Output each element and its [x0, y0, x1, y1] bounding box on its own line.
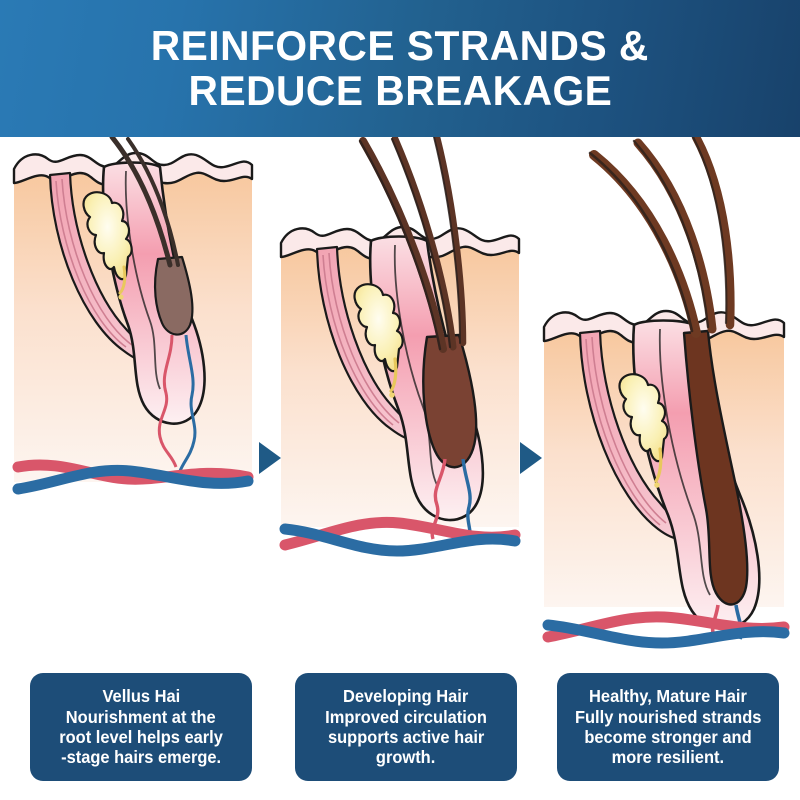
- headline-line-2: REDUCE BREAKAGE: [188, 69, 612, 114]
- caption-2-line-3: supports active hair: [328, 727, 484, 747]
- caption-box-mature-hair: Healthy, Mature Hair Fully nourished str…: [557, 673, 779, 781]
- caption-3-line-4: more resilient.: [612, 747, 724, 767]
- headline-line-1: REINFORCE STRANDS &: [151, 24, 649, 69]
- caption-2-line-4: growth.: [376, 747, 435, 767]
- hair-growth-infographic: REINFORCE STRANDS & REDUCE BREAKAGE: [0, 0, 800, 800]
- caption-2-line-1: Developing Hair: [343, 686, 468, 706]
- hair-shafts-mature: [590, 137, 730, 333]
- panel-developing-hair-stage: [267, 137, 533, 660]
- caption-1-line-2: Nourishment at the: [66, 707, 216, 727]
- caption-1-line-4: -stage hairs emerge.: [61, 747, 221, 767]
- caption-1-line-3: root level helps early: [59, 727, 223, 747]
- caption-3-line-2: Fully nourished strands: [575, 707, 761, 727]
- caption-3-line-1: Healthy, Mature Hair: [589, 686, 747, 706]
- caption-box-developing-hair: Developing Hair Improved circulation sup…: [295, 673, 517, 781]
- caption-1-line-1: Vellus Hai: [102, 686, 180, 706]
- panel-vellus-hair-stage: [0, 137, 266, 660]
- panel-mature-hair-stage: [534, 137, 800, 660]
- caption-2-line-2: Improved circulation: [325, 707, 487, 727]
- caption-3-line-3: become stronger and: [584, 727, 751, 747]
- header-banner: REINFORCE STRANDS & REDUCE BREAKAGE: [0, 0, 800, 137]
- blood-vessel-vein: [548, 625, 784, 643]
- caption-box-vellus-hair: Vellus Hai Nourishment at the root level…: [30, 673, 252, 781]
